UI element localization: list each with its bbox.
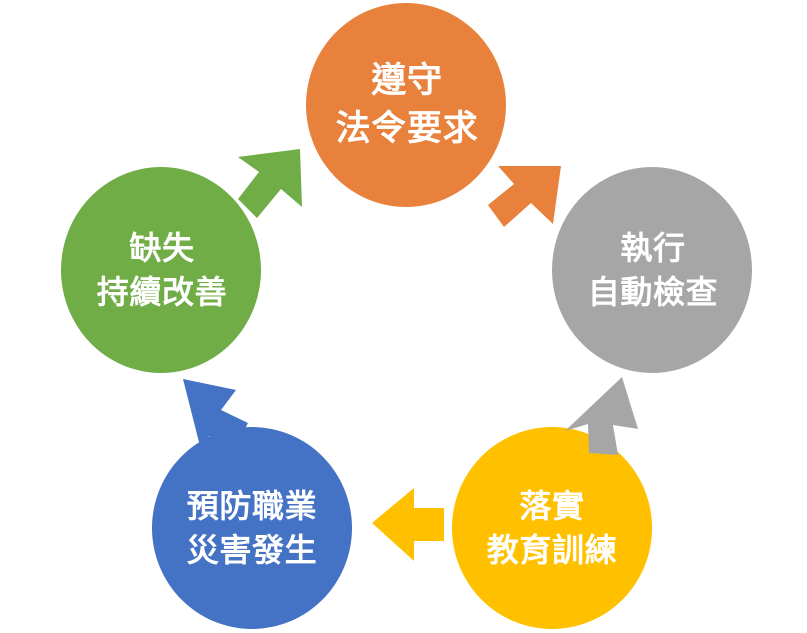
arrow-orange-icon <box>488 166 561 227</box>
node-circle-comply-regulations[interactable] <box>306 3 506 207</box>
node-circle-implement-training[interactable] <box>452 427 652 629</box>
cycle-diagram: 遵守 法令要求 執行 自動檢查 落實 教育訓練 預防職業 災害發生 缺失 持續改… <box>0 0 807 633</box>
node-circle-perform-auto-inspection[interactable] <box>552 167 752 373</box>
cycle-diagram-svg <box>0 0 807 633</box>
node-circle-continuous-improvement[interactable] <box>61 167 261 373</box>
arrow-yellow-icon <box>372 488 444 561</box>
node-circle-prevent-occupational-hazard[interactable] <box>152 427 352 629</box>
arrow-green-icon <box>238 149 302 218</box>
